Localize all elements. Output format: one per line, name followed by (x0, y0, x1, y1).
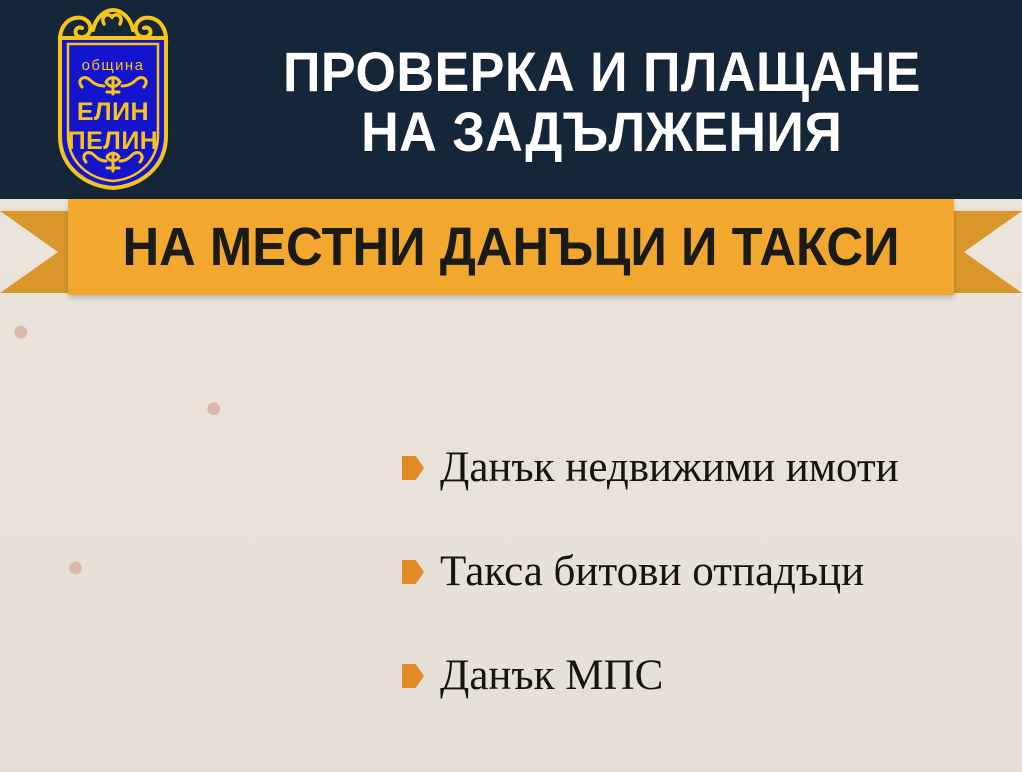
ribbon-label: НА МЕСТНИ ДАНЪЦИ И ТАКСИ (95, 199, 928, 295)
list-item-label: Данък МПС (440, 652, 663, 699)
page-title-line-2: НА ЗАДЪЛЖЕНИЯ (361, 103, 842, 160)
municipality-logo: община ЕЛИН ПЕЛИН (38, 8, 188, 194)
list-item[interactable]: Данък МПС (402, 640, 1014, 712)
vehicle-stamp-inner (94, 532, 302, 740)
list-item-label: Данък недвижими имоти (440, 444, 899, 491)
arrow-bullet-icon (402, 456, 424, 480)
car-icon (125, 573, 271, 699)
page-title: ПРОВЕРКА И ПЛАЩАНЕ НА ЗАДЪЛЖЕНИЯ (196, 14, 1008, 189)
page-title-line-1: ПРОВЕРКА И ПЛАЩАНЕ (283, 43, 921, 100)
house-stamp-inner (37, 331, 205, 499)
list-item[interactable]: Данък недвижими имоти (402, 432, 1014, 504)
tax-type-list: Данък недвижими имоти Такса битови отпад… (402, 432, 1014, 744)
list-item[interactable]: Такса битови отпадъци (402, 536, 1014, 608)
arrow-bullet-icon (402, 560, 424, 584)
shield-coat-of-arms-icon: община ЕЛИН ПЕЛИН (38, 8, 188, 194)
header-banner: община ЕЛИН ПЕЛИН (0, 0, 1022, 199)
svg-text:ЕЛИН: ЕЛИН (77, 98, 149, 126)
list-item-label: Такса битови отпадъци (440, 548, 864, 595)
subtitle-ribbon: НА МЕСТНИ ДАНЪЦИ И ТАКСИ (0, 199, 1022, 303)
arrow-bullet-icon (402, 664, 424, 688)
svg-text:община: община (82, 57, 145, 74)
svg-text:ПЕЛИН: ПЕЛИН (68, 127, 159, 155)
poster-canvas: община ЕЛИН ПЕЛИН (0, 0, 1022, 772)
house-icon (56, 357, 185, 472)
house-stamp (13, 307, 229, 523)
